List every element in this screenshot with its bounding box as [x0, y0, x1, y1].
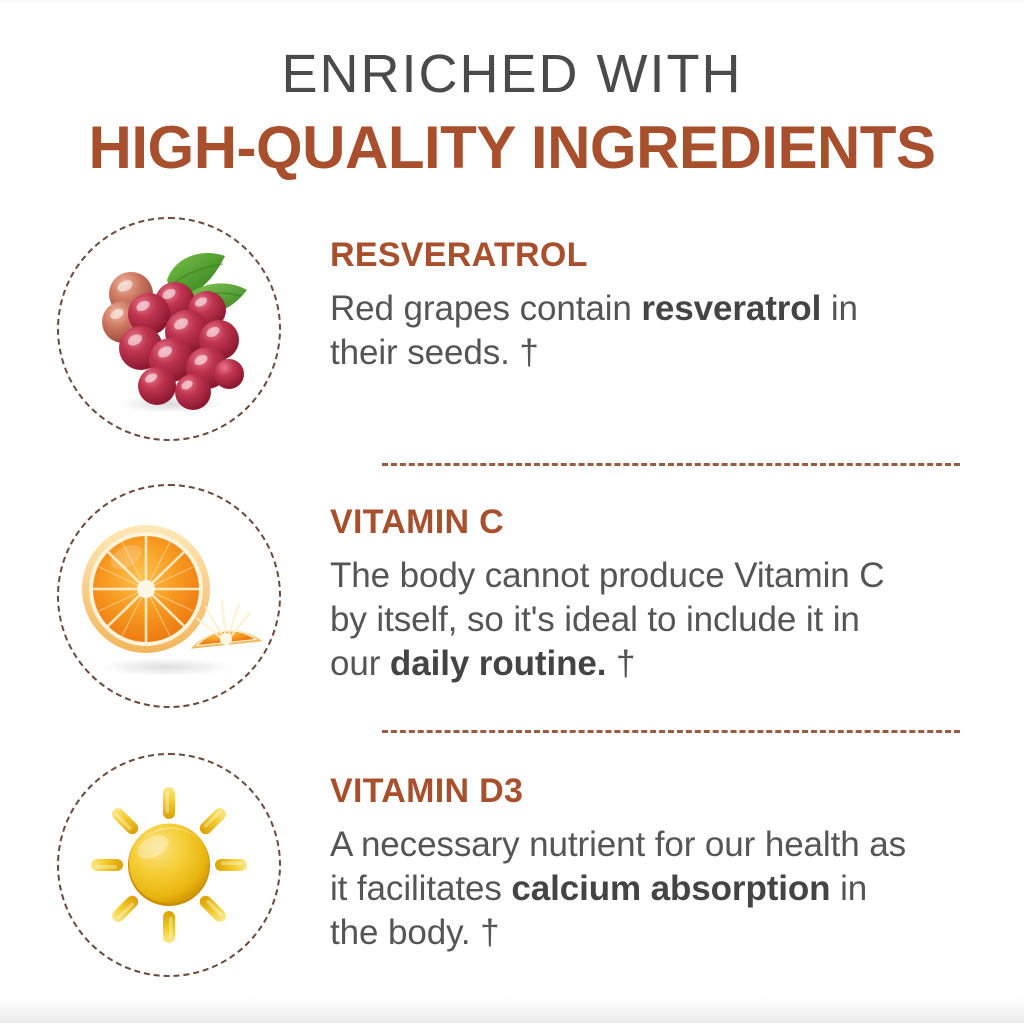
grapes-icon	[79, 242, 259, 417]
icon-cell-vitamin-c	[0, 484, 330, 708]
desc-part-2	[606, 644, 616, 683]
text-cell-vitamin-d3: VITAMIN D3 A necessary nutrient for our …	[330, 753, 915, 955]
desc-highlight: resveratrol	[641, 289, 821, 328]
ingredient-title: RESVERATROL	[330, 237, 915, 274]
ingredient-list: RESVERATROL Red grapes contain resveratr…	[0, 217, 1024, 977]
text-cell-vitamin-c: VITAMIN C The body cannot produce Vitami…	[330, 484, 915, 686]
dashed-circle-vitamin-d3	[57, 753, 281, 977]
desc-highlight: daily routine.	[390, 644, 606, 683]
ingredient-row-vitamin-c: VITAMIN C The body cannot produce Vitami…	[0, 484, 1024, 708]
sun-icon	[81, 777, 257, 953]
ingredient-title: VITAMIN D3	[330, 773, 915, 810]
dashed-circle-resveratrol	[57, 217, 281, 441]
icon-cell-vitamin-d3	[0, 753, 330, 977]
ingredient-row-resveratrol: RESVERATROL Red grapes contain resveratr…	[0, 217, 1024, 441]
divider-1	[382, 463, 960, 466]
text-cell-resveratrol: RESVERATROL Red grapes contain resveratr…	[330, 217, 915, 375]
icon-cell-resveratrol	[0, 217, 330, 441]
divider-2	[382, 730, 960, 733]
desc-highlight: calcium absorption	[511, 869, 830, 908]
ingredient-description: Red grapes contain resveratrol in their …	[330, 287, 915, 375]
ingredient-title: VITAMIN C	[330, 504, 915, 541]
bottom-fade	[0, 997, 1024, 1023]
dagger-mark: †	[480, 913, 499, 952]
desc-part-1: Red grapes contain	[330, 289, 641, 328]
dagger-mark: †	[616, 644, 635, 683]
orange-icon	[74, 511, 264, 681]
infographic-page: ENRICHED WITH HIGH-QUALITY INGREDIENTS	[0, 0, 1024, 1023]
top-edge	[0, 0, 1024, 2]
header-line-1: ENRICHED WITH	[0, 46, 1024, 103]
dashed-circle-vitamin-c	[57, 484, 281, 708]
ingredient-description: The body cannot produce Vitamin C by its…	[330, 554, 915, 686]
header-line-2: HIGH-QUALITY INGREDIENTS	[0, 113, 1024, 184]
header: ENRICHED WITH HIGH-QUALITY INGREDIENTS	[0, 0, 1024, 183]
dagger-mark: †	[519, 333, 538, 372]
ingredient-description: A necessary nutrient for our health as i…	[330, 823, 915, 955]
ingredient-row-vitamin-d3: VITAMIN D3 A necessary nutrient for our …	[0, 753, 1024, 977]
